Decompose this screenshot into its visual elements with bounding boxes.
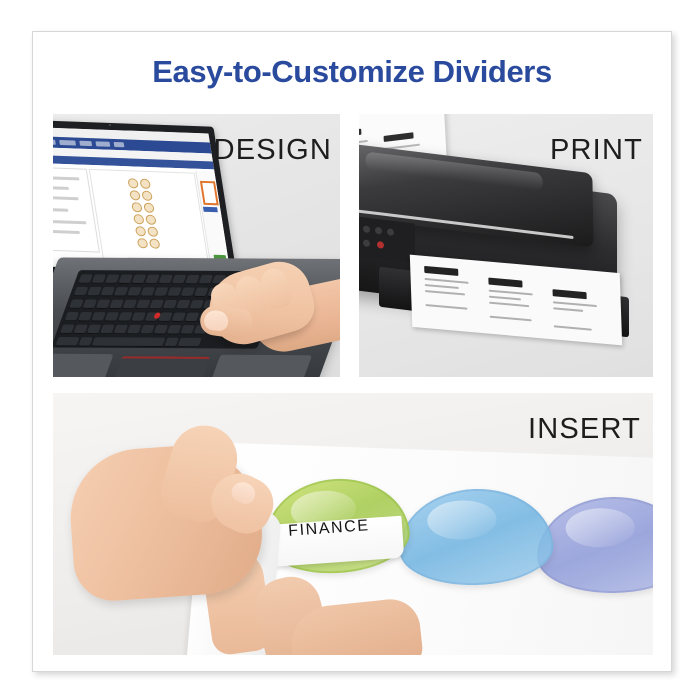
printer-button [363, 225, 370, 233]
design-canvas [89, 169, 209, 263]
printer-button [387, 228, 394, 236]
laptop-touchpad [110, 356, 210, 377]
printer-power-button [377, 241, 384, 249]
hand-upper [71, 421, 321, 621]
panel-print: PRINT [359, 114, 653, 377]
webcam-icon [109, 124, 111, 126]
step-label-print: PRINT [550, 134, 643, 167]
panel-insert: FINANCE INSERT [53, 393, 653, 655]
step-label-design: DESIGN [214, 134, 332, 167]
printer-button [363, 239, 370, 247]
thumbnail [229, 478, 259, 506]
tab-highlight [427, 499, 497, 540]
step-label-insert: INSERT [528, 413, 641, 446]
selected-shape-outline [200, 181, 219, 205]
round-label-preview-grid [126, 177, 172, 250]
hand-typing [196, 242, 340, 377]
product-card: Easy-to-Customize Dividers [32, 31, 672, 672]
page-title: Easy-to-Customize Dividers [33, 54, 671, 90]
product-image-canvas: Easy-to-Customize Dividers [0, 0, 700, 700]
tab-highlight [565, 508, 635, 548]
thumbnail [203, 309, 230, 332]
printer-button [375, 227, 382, 235]
palmrest-left [53, 354, 114, 377]
panel-design: DESIGN [53, 114, 340, 377]
sidebar-blue-button [203, 207, 218, 213]
hand-thumb [198, 304, 254, 341]
laptop-screen [53, 127, 230, 274]
